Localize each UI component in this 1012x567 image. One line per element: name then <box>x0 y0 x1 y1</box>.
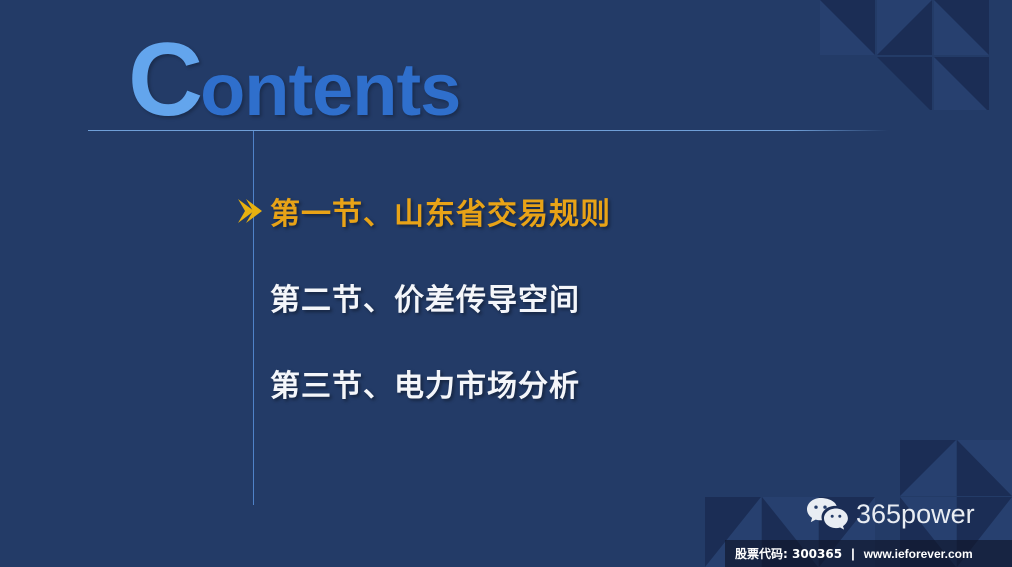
contents-item-1[interactable]: 第一节、山东省交易规则 <box>236 185 856 237</box>
contents-list: 第一节、山东省交易规则 第二节、价差传导空间 第三节、电力市场分析 <box>236 185 856 409</box>
decorative-pattern-top-right <box>820 0 1012 110</box>
title-rest: ontents <box>200 38 460 142</box>
title-underline <box>88 130 888 131</box>
wechat-icon <box>806 497 848 531</box>
contents-item-label: 第二节、价差传导空间 <box>270 275 580 319</box>
triangle-pattern-svg <box>820 0 1012 110</box>
footer-bar: 股票代码: 300365 | www.ieforever.com <box>725 540 1012 567</box>
contents-item-2[interactable]: 第二节、价差传导空间 <box>236 271 856 323</box>
contents-item-label: 第三节、电力市场分析 <box>270 361 580 405</box>
chevron-right-icon <box>236 196 262 226</box>
title-first-letter: C <box>128 28 202 132</box>
website-url[interactable]: www.ieforever.com <box>864 547 973 561</box>
contents-item-label: 第一节、山东省交易规则 <box>270 189 611 233</box>
contents-item-3[interactable]: 第三节、电力市场分析 <box>236 357 856 409</box>
watermark-text: 365power <box>856 499 975 530</box>
presentation-slide: C ontents 第一节、山东省交易规则 第二节、价差传导空间 第三节、电力市… <box>0 0 1012 567</box>
watermark: 365power <box>806 497 975 531</box>
footer-separator: | <box>851 546 855 561</box>
page-title: C ontents <box>128 28 460 142</box>
stock-code-label: 股票代码: 300365 <box>735 545 842 562</box>
